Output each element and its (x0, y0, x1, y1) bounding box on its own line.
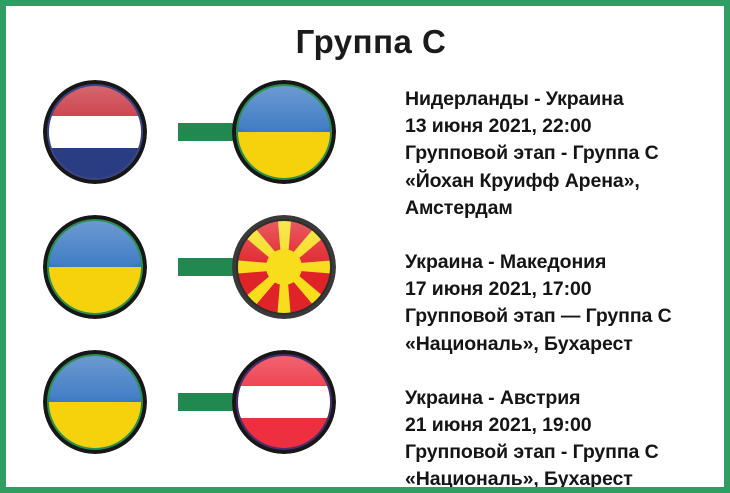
fixture-venue: «Йохан Круифф Арена», (405, 168, 725, 195)
fixture-city: Амстердам (405, 195, 725, 222)
flag-band-white (237, 386, 331, 417)
sun-disc (266, 249, 302, 285)
dash-separator (178, 258, 234, 276)
match-row (36, 348, 376, 460)
fixture-venue: «Националь», Бухарест (405, 466, 725, 493)
flag-band-red-bottom (237, 418, 331, 449)
fixture-details: Украина - Австрия 21 июня 2021, 19:00 Гр… (405, 385, 725, 493)
match-row (36, 78, 376, 190)
flag-band-white (48, 116, 142, 147)
ukraine-flag (43, 350, 147, 454)
flag-face (237, 220, 331, 314)
page-title: Группа С (6, 22, 730, 62)
flag-face (48, 85, 142, 179)
fixture-teams: Нидерланды - Украина (405, 86, 725, 113)
ukraine-flag (232, 80, 336, 184)
flag-band-yellow (48, 267, 142, 314)
flag-band-blue (48, 220, 142, 267)
flag-face (48, 355, 142, 449)
fixture-venue: «Националь», Бухарест (405, 331, 725, 358)
flag-face (237, 355, 331, 449)
fixture-datetime: 17 июня 2021, 17:00 (405, 276, 725, 303)
dash-separator (178, 123, 234, 141)
ukraine-flag (43, 215, 147, 319)
fixture-datetime: 21 июня 2021, 19:00 (405, 412, 725, 439)
fixture-datetime: 13 июня 2021, 22:00 (405, 113, 725, 140)
flag-band-blue (48, 355, 142, 402)
netherlands-flag (43, 80, 147, 184)
fixtures-text-column: Нидерланды - Украина 13 июня 2021, 22:00… (405, 86, 725, 493)
dash-separator (178, 393, 234, 411)
macedonia-flag (232, 215, 336, 319)
match-row (36, 213, 376, 325)
flag-band-yellow (237, 132, 331, 179)
flag-band-red-top (237, 355, 331, 386)
fixture-details: Украина - Македония 17 июня 2021, 17:00 … (405, 249, 725, 358)
flag-band-red (48, 85, 142, 116)
flag-band-blue (237, 85, 331, 132)
flag-face (48, 220, 142, 314)
group-c-fixtures-poster: Группа С (0, 0, 730, 493)
flag-band-yellow (48, 402, 142, 449)
fixture-teams: Украина - Австрия (405, 385, 725, 412)
austria-flag (232, 350, 336, 454)
fixture-stage: Групповой этап - Группа С (405, 439, 725, 466)
flag-band-blue (48, 148, 142, 179)
fixture-teams: Украина - Македония (405, 249, 725, 276)
fixture-stage: Групповой этап - Группа С (405, 140, 725, 167)
fixture-details: Нидерланды - Украина 13 июня 2021, 22:00… (405, 86, 725, 222)
flag-face (237, 85, 331, 179)
fixture-stage: Групповой этап — Группа С (405, 303, 725, 330)
